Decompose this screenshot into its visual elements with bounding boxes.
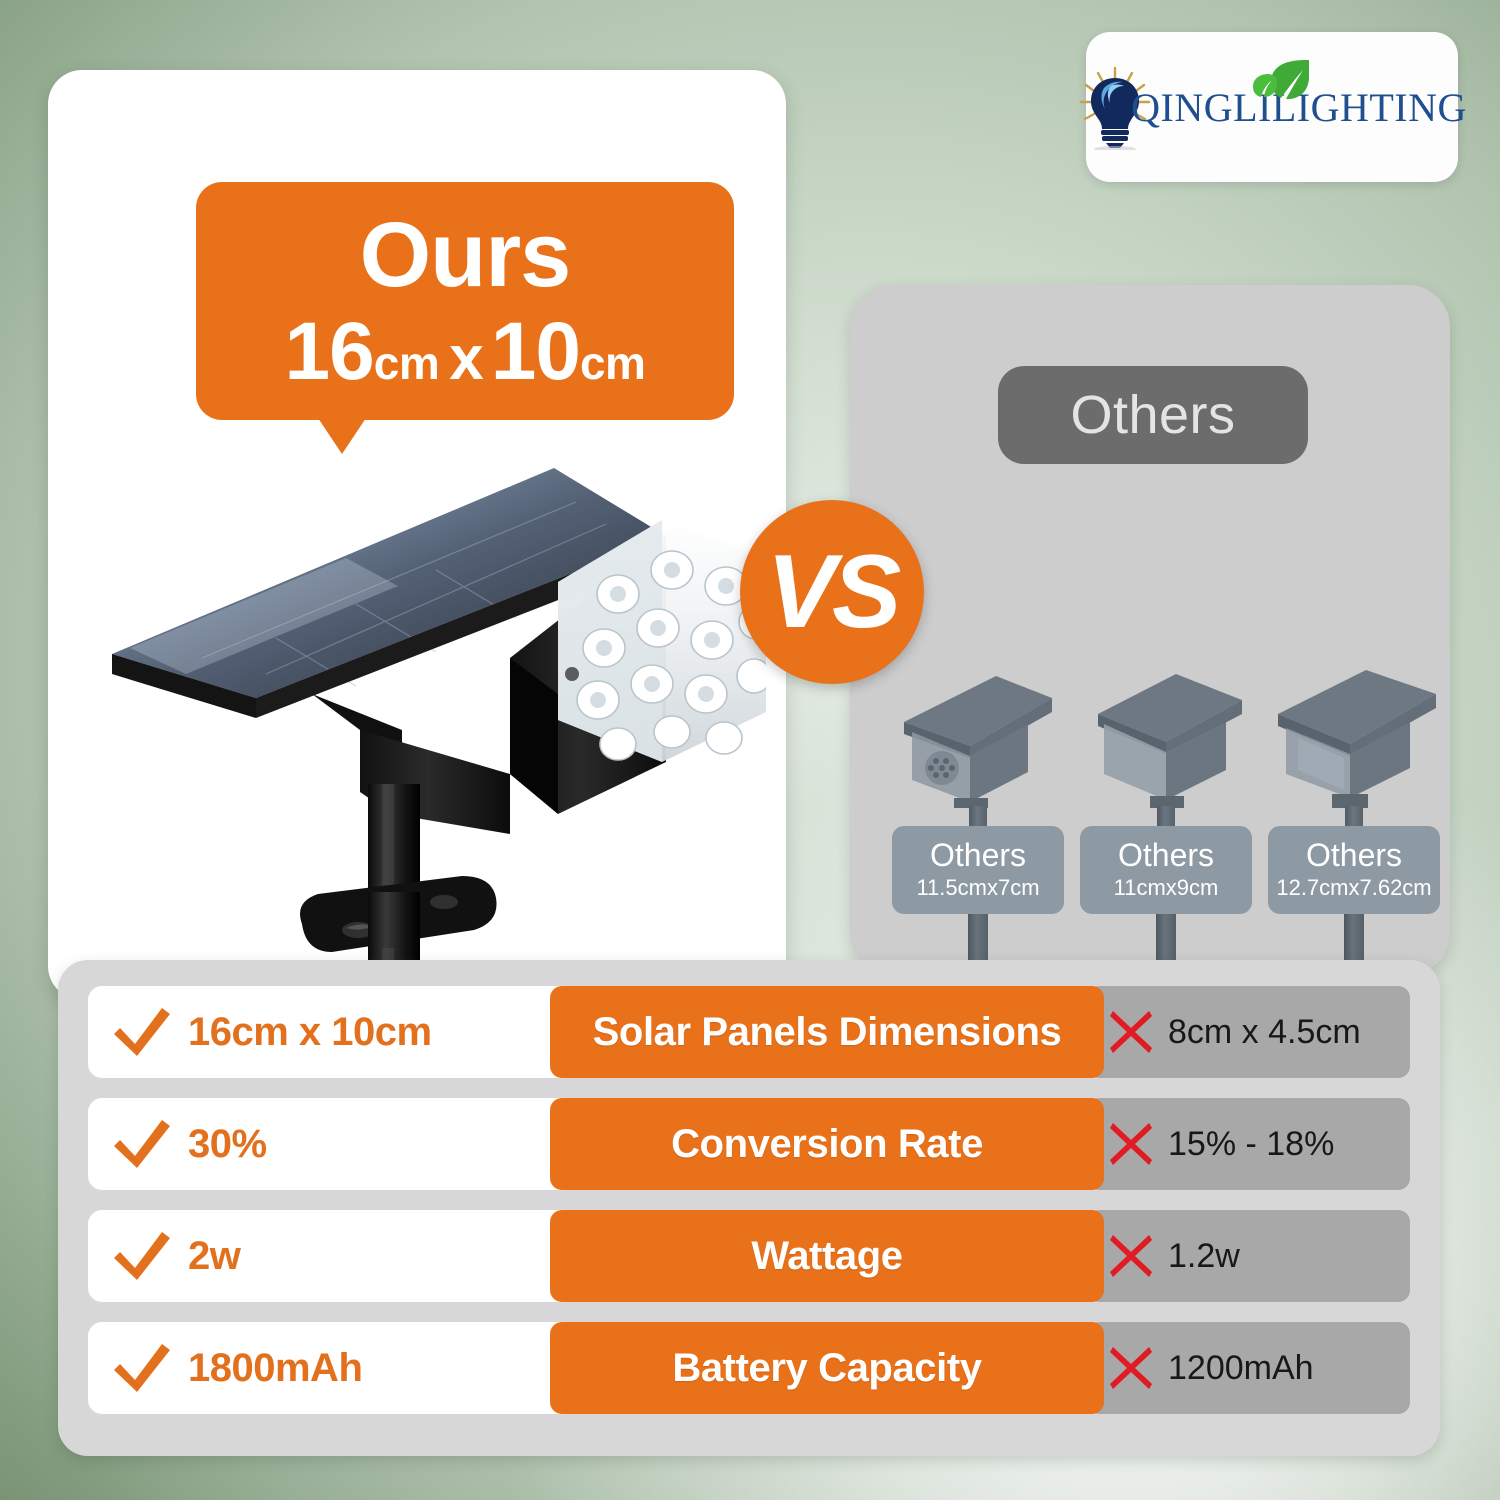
ours-dim-second-number: 10 [491,311,580,393]
cross-icon [1108,1345,1154,1391]
check-icon [110,1004,174,1060]
competitor-label-size: 12.7cmx7.62cm [1276,875,1431,901]
others-cell: 8cm x 4.5cm [1088,986,1410,1078]
others-value: 1.2w [1168,1237,1240,1276]
competitor-lamp-icon [1080,660,1252,810]
ours-dim-separator: x [449,328,482,390]
list-item: Others 11cmx9cm [1080,660,1252,960]
solar-spotlight-icon [106,462,766,1032]
others-value: 15% - 18% [1168,1125,1334,1164]
brand-name: QINGLILIGHTING [1131,84,1467,131]
ours-dim-first-number: 16 [285,311,374,393]
feature-label: Solar Panels Dimensions [550,986,1104,1078]
others-cell: 1200mAh [1088,1322,1410,1414]
competitor-label: Others 12.7cmx7.62cm [1268,826,1440,914]
others-value: 8cm x 4.5cm [1168,1013,1361,1052]
brand-logo: QINGLILIGHTING [1073,64,1467,150]
cross-icon [1108,1233,1154,1279]
competitor-label-size: 11.5cmx7cm [916,875,1039,901]
others-value: 1200mAh [1168,1349,1314,1388]
others-cell: 1.2w [1088,1210,1410,1302]
table-row: 2wWattage1.2w [88,1210,1410,1302]
check-icon [110,1228,174,1284]
comparison-rows: 16cm x 10cmSolar Panels Dimensions8cm x … [88,986,1410,1414]
competitor-label: Others 11.5cmx7cm [892,826,1064,914]
ours-dim-first-unit: cm [374,340,439,386]
table-row: 1800mAhBattery Capacity1200mAh [88,1322,1410,1414]
ours-title: Ours [360,209,571,301]
competitor-lamp-icon [892,660,1064,810]
ours-value: 2w [188,1234,240,1279]
competitor-label-title: Others [1306,839,1402,873]
feature-label: Conversion Rate [550,1098,1104,1190]
ours-dim-second-unit: cm [580,340,645,386]
ours-value: 16cm x 10cm [188,1010,432,1055]
others-cell: 15% - 18% [1088,1098,1410,1190]
list-item: Others 12.7cmx7.62cm [1268,660,1440,960]
competitor-label: Others 11cmx9cm [1080,826,1252,914]
competitor-label-title: Others [1118,839,1214,873]
table-row: 16cm x 10cmSolar Panels Dimensions8cm x … [88,986,1410,1078]
others-product-list: Others 11.5cmx7cm [870,660,1430,960]
feature-label: Wattage [550,1210,1104,1302]
cross-icon [1108,1009,1154,1055]
ours-dimensions: 16 cm x 10 cm [285,311,646,393]
check-icon [110,1116,174,1172]
ours-product-card: Ours 16 cm x 10 cm [48,70,786,1000]
check-icon [110,1340,174,1396]
brand-logo-card: QINGLILIGHTING [1086,32,1458,182]
cross-icon [1108,1121,1154,1167]
comparison-table: 16cm x 10cmSolar Panels Dimensions8cm x … [58,960,1440,1456]
feature-label: Battery Capacity [550,1322,1104,1414]
competitor-label-title: Others [930,839,1026,873]
competitor-lamp-icon [1268,660,1440,810]
others-title-badge: Others [998,366,1308,464]
table-row: 30%Conversion Rate15% - 18% [88,1098,1410,1190]
ours-value: 30% [188,1122,267,1167]
ours-value: 1800mAh [188,1346,362,1391]
list-item: Others 11.5cmx7cm [892,660,1064,960]
vs-badge: VS [740,500,924,684]
infographic-canvas: QINGLILIGHTING Ours 16 cm x 10 cm [0,0,1500,1500]
competitor-label-size: 11cmx9cm [1114,875,1219,901]
others-product-card: Others Others [850,285,1450,975]
ours-size-badge: Ours 16 cm x 10 cm [196,182,734,420]
